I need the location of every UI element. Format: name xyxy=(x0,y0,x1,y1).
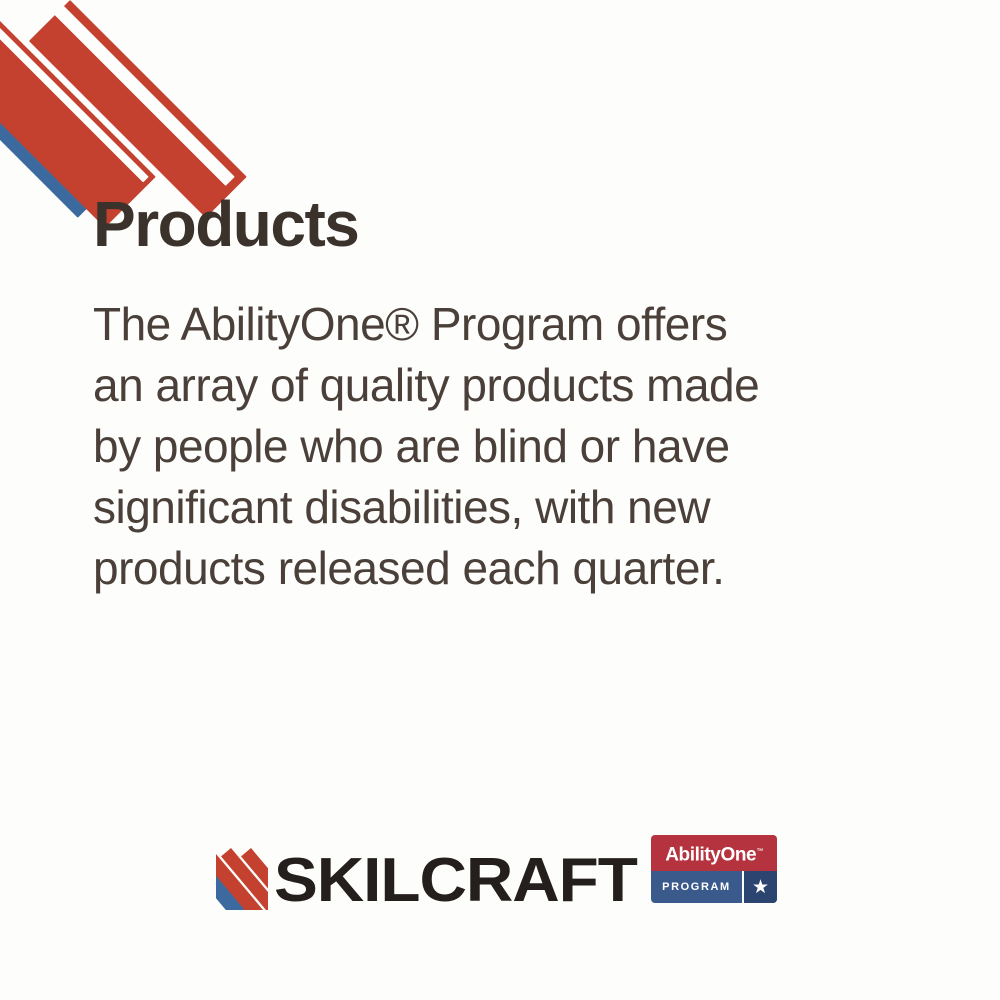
star-icon: ★ xyxy=(752,878,769,897)
skilcraft-logo: SKILCRAFT xyxy=(216,830,616,910)
corner-stripe-gap-1 xyxy=(0,0,149,182)
abilityone-trademark-symbol: ™ xyxy=(756,848,763,855)
abilityone-brand-text: AbilityOne™ xyxy=(665,842,763,864)
product-info-card: Products The AbilityOne® Program offers … xyxy=(0,0,1000,1000)
corner-stripe-blue xyxy=(0,0,119,218)
abilityone-program-block: PROGRAM ★ xyxy=(651,871,777,903)
skilcraft-wordmark: SKILCRAFT xyxy=(274,852,637,910)
logo-row: SKILCRAFT AbilityOne™ PROGRAM ★ xyxy=(0,826,1000,926)
abilityone-star-box: ★ xyxy=(742,871,777,903)
abilityone-logo: AbilityOne™ PROGRAM ★ xyxy=(651,835,777,903)
body-copy-line: The AbilityOne® Program offers xyxy=(93,294,883,355)
corner-stripe-red-2 xyxy=(29,0,247,218)
corner-stripe-gap-2 xyxy=(49,0,235,186)
body-copy-line: significant disabilities, with new xyxy=(93,477,883,538)
body-copy-line: by people who are blind or have xyxy=(93,416,883,477)
skilcraft-flag-mark-icon xyxy=(216,848,268,910)
abilityone-brand-label: AbilityOne xyxy=(665,844,756,865)
card-content: Products The AbilityOne® Program offers … xyxy=(93,188,883,599)
abilityone-program-label: PROGRAM xyxy=(651,871,742,903)
body-copy-line: products released each quarter. xyxy=(93,538,883,599)
body-copy-line: an array of quality products made xyxy=(93,355,883,416)
abilityone-brand-block: AbilityOne™ xyxy=(651,835,777,871)
page-title: Products xyxy=(93,188,883,260)
body-copy: The AbilityOne® Program offers an array … xyxy=(93,260,883,599)
